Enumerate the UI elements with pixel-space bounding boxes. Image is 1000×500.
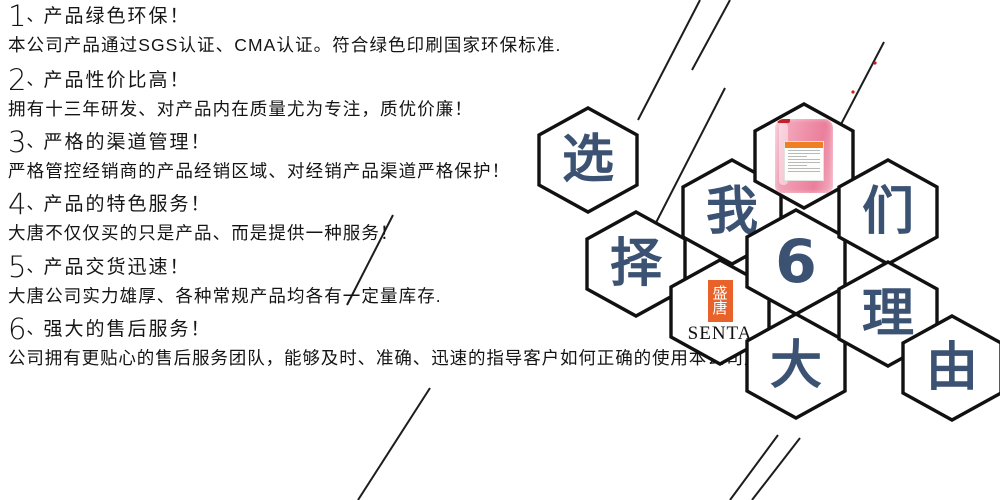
honeycomb-cluster: 选择我盛唐SENTA6大们理由	[0, 0, 1000, 500]
jerrycan-icon	[775, 119, 833, 193]
hexagon-cell-选: 选	[532, 104, 644, 216]
logo-seal: 盛唐	[708, 280, 733, 322]
hexagon-label: 们	[832, 156, 944, 268]
hexagon-cell-们: 们	[832, 156, 944, 268]
logo-char-bottom: 唐	[712, 301, 727, 316]
hexagon-label: 选	[532, 104, 644, 216]
hexagon-label: 由	[896, 312, 1000, 424]
label-text-lines	[785, 148, 823, 176]
promo-banner: 1、产品绿色环保！本公司产品通过SGS认证、CMA认证。符合绿色印刷国家环保标准…	[0, 0, 1000, 500]
jerrycan-label	[784, 141, 824, 181]
hexagon-cell-由: 由	[896, 312, 1000, 424]
